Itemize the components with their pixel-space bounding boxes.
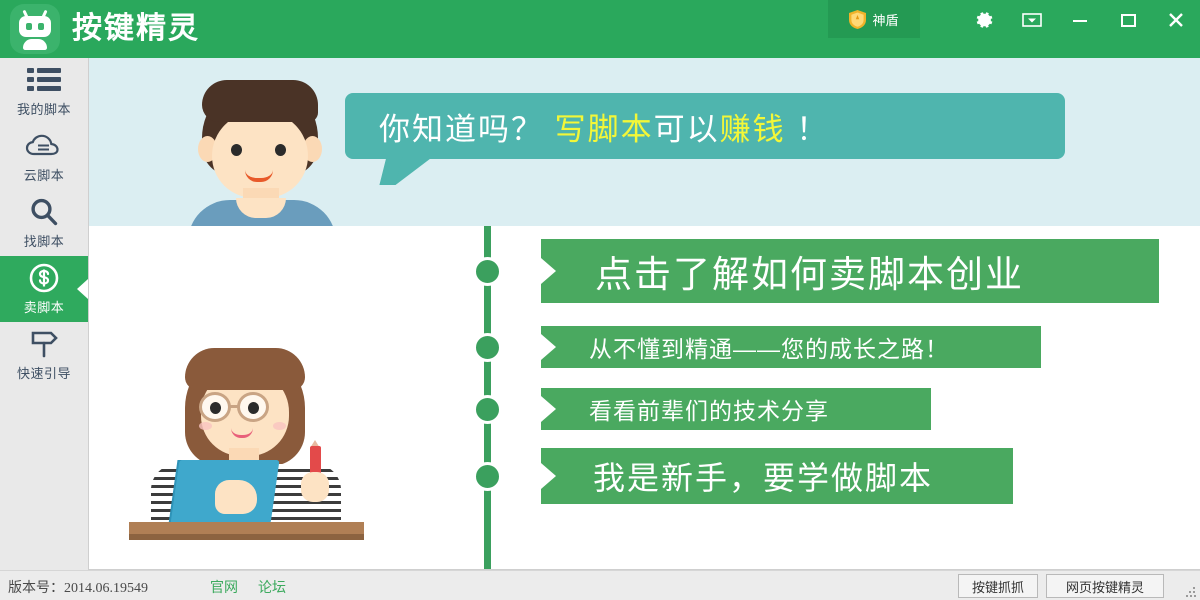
bubble-highlight-2: 赚钱 (720, 112, 786, 147)
status-bar: 版本号：2014.06.19549 官网 论坛 按键抓抓 网页按键精灵 (0, 570, 1200, 600)
application-window: 按键精灵 神盾 (0, 0, 1200, 600)
action-button-tech-sharing[interactable]: 看看前辈们的技术分享 (541, 388, 931, 430)
bubble-part-2: 可以 (654, 112, 720, 147)
robot-icon (10, 4, 60, 54)
promo-banner: 你知道吗？ 写脚本可以赚钱 ！ (89, 58, 1200, 226)
cloud-icon (25, 131, 63, 161)
app-logo-group: 按键精灵 (10, 4, 200, 54)
main-panel: 点击了解如何卖脚本创业 从不懂到精通——您的成长之路！ 看看前辈们的技术分享 我… (89, 226, 1200, 570)
bubble-part-1: 你知道吗？ (379, 112, 555, 147)
shield-label: 神盾 (872, 10, 898, 29)
close-icon[interactable] (1152, 0, 1200, 40)
version-label: 版本号：2014.06.19549 (8, 577, 148, 597)
speech-bubble-text: 你知道吗？ 写脚本可以赚钱 ！ (379, 104, 829, 149)
link-official-site[interactable]: 官网 (210, 577, 238, 597)
minimize-to-tray-icon[interactable] (1008, 0, 1056, 40)
dollar-circle-icon (28, 263, 60, 293)
action-button-list: 点击了解如何卖脚本创业 从不懂到精通——您的成长之路！ 看看前辈们的技术分享 我… (89, 226, 1200, 570)
sidebar-item-label: 云脚本 (24, 165, 65, 184)
sidebar-item-sell-scripts[interactable]: 卖脚本 (0, 256, 88, 322)
list-icon (27, 65, 61, 95)
app-title: 按键精灵 (72, 4, 200, 54)
speech-bubble: 你知道吗？ 写脚本可以赚钱 ！ (345, 93, 1065, 159)
sidebar-item-label: 卖脚本 (24, 297, 65, 316)
signpost-icon (28, 329, 60, 359)
sidebar-item-label: 我的脚本 (17, 99, 71, 118)
sidebar: 我的脚本 云脚本 找脚本 (0, 58, 88, 570)
action-button-sell-startup[interactable]: 点击了解如何卖脚本创业 (541, 239, 1159, 303)
sidebar-item-quick-guide[interactable]: 快速引导 (0, 322, 88, 388)
action-button-beginner[interactable]: 我是新手，要学做脚本 (541, 448, 1013, 504)
button-web-keymagic[interactable]: 网页按键精灵 (1046, 574, 1164, 598)
bubble-part-3: ！ (786, 112, 830, 147)
maximize-icon[interactable] (1104, 0, 1152, 40)
sidebar-item-label: 快速引导 (17, 363, 71, 382)
link-forum[interactable]: 论坛 (258, 577, 286, 597)
button-key-capture[interactable]: 按键抓抓 (958, 574, 1038, 598)
window-controls (960, 0, 1200, 58)
sidebar-item-my-scripts[interactable]: 我的脚本 (0, 58, 88, 124)
resize-grip[interactable] (1186, 587, 1196, 597)
boy-avatar (174, 80, 354, 226)
sidebar-item-label: 找脚本 (24, 231, 65, 250)
bubble-highlight-1: 写脚本 (555, 112, 654, 147)
shield-icon (849, 10, 866, 29)
action-button-growth-path[interactable]: 从不懂到精通——您的成长之路！ (541, 326, 1041, 368)
shield-button[interactable]: 神盾 (828, 0, 920, 38)
content-area: 你知道吗？ 写脚本可以赚钱 ！ (88, 58, 1200, 570)
minimize-icon[interactable] (1056, 0, 1104, 40)
gear-icon[interactable] (960, 0, 1008, 40)
sidebar-item-cloud-scripts[interactable]: 云脚本 (0, 124, 88, 190)
title-bar: 按键精灵 神盾 (0, 0, 1200, 58)
search-icon (29, 197, 59, 227)
sidebar-item-find-scripts[interactable]: 找脚本 (0, 190, 88, 256)
